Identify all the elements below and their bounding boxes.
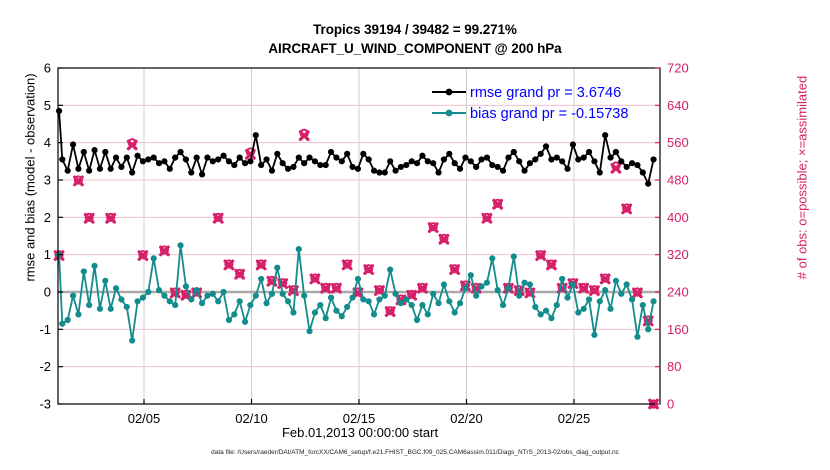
- bias-series-marker: [361, 297, 366, 302]
- rmse-series-marker: [259, 162, 264, 167]
- rmse-series-marker: [242, 161, 247, 166]
- bias-series-marker: [398, 301, 403, 306]
- bias-series-marker: [269, 291, 274, 296]
- rmse-series-marker: [189, 170, 194, 175]
- bias-series-marker: [619, 291, 624, 296]
- bias-series-marker: [302, 293, 307, 298]
- rmse-series-marker: [543, 144, 548, 149]
- rmse-series-marker: [640, 170, 645, 175]
- bias-series-marker: [350, 295, 355, 300]
- bias-series-marker: [339, 314, 344, 319]
- rmse-series-marker: [162, 159, 167, 164]
- bias-series-marker: [597, 299, 602, 304]
- rmse-series-marker: [119, 164, 124, 169]
- rmse-series-marker: [495, 164, 500, 169]
- y-tick-label-right: 80: [667, 359, 681, 374]
- bias-series-marker: [613, 278, 618, 283]
- bias-series-marker: [146, 289, 151, 294]
- y-tick-label-left: -2: [39, 359, 51, 374]
- rmse-series-marker: [447, 151, 452, 156]
- bias-series-marker: [388, 267, 393, 272]
- rmse-series-marker: [65, 168, 70, 173]
- rmse-series-marker: [366, 157, 371, 162]
- legend-marker-rmse: [446, 89, 453, 96]
- bias-series-marker: [635, 334, 640, 339]
- legend-label-bias: bias grand pr = -0.15738: [470, 106, 628, 122]
- bias-series-marker: [103, 278, 108, 283]
- bias-series-marker: [474, 293, 479, 298]
- bias-series-marker: [140, 295, 145, 300]
- rmse-series-marker: [334, 155, 339, 160]
- rmse-series-marker: [87, 168, 92, 173]
- rmse-series-marker: [613, 149, 618, 154]
- bias-series-marker: [457, 301, 462, 306]
- x-tick-label: 02/20: [450, 411, 483, 426]
- rmse-series-marker: [484, 155, 489, 160]
- bias-series-marker: [527, 282, 532, 287]
- legend-marker-bias: [446, 110, 453, 117]
- rmse-series-marker: [280, 161, 285, 166]
- bias-series-marker: [517, 293, 522, 298]
- x-tick-label: 02/25: [558, 411, 591, 426]
- bias-series-marker: [124, 304, 129, 309]
- bias-series-marker: [242, 319, 247, 324]
- bias-series-marker: [285, 299, 290, 304]
- rmse-series-marker: [651, 157, 656, 162]
- rmse-series-marker: [597, 170, 602, 175]
- bias-series-marker: [624, 282, 629, 287]
- rmse-series-marker: [248, 159, 253, 164]
- rmse-series-marker: [183, 157, 188, 162]
- rmse-series-marker: [156, 161, 161, 166]
- bias-series-marker: [414, 317, 419, 322]
- bias-series-marker: [382, 293, 387, 298]
- bias-series-marker: [312, 310, 317, 315]
- rmse-series-marker: [291, 164, 296, 169]
- rmse-series-marker: [377, 170, 382, 175]
- bias-series-marker: [447, 299, 452, 304]
- y-tick-label-left: -1: [39, 322, 51, 337]
- rmse-series-marker: [431, 161, 436, 166]
- rmse-series-marker: [167, 166, 172, 171]
- bias-series-marker: [199, 301, 204, 306]
- y-tick-label-left: 5: [44, 98, 51, 113]
- y-tick-label-right: 560: [667, 135, 689, 150]
- bias-series-marker: [216, 299, 221, 304]
- bias-series-marker: [570, 282, 575, 287]
- y-tick-label-left: 3: [44, 173, 51, 188]
- rmse-series-marker: [506, 155, 511, 160]
- bias-series-marker: [495, 288, 500, 293]
- rmse-series-marker: [124, 155, 129, 160]
- y-tick-label-left: 2: [44, 210, 51, 225]
- rmse-series-marker: [345, 151, 350, 156]
- bias-series-marker: [76, 312, 81, 317]
- rmse-series-marker: [619, 159, 624, 164]
- bias-series-marker: [318, 302, 323, 307]
- bias-series-marker: [221, 289, 226, 294]
- bias-series-marker: [345, 304, 350, 309]
- bias-series-marker: [65, 317, 70, 322]
- bias-series-marker: [420, 302, 425, 307]
- x-tick-label: 02/10: [235, 411, 268, 426]
- rmse-series-marker: [404, 162, 409, 167]
- bias-series-marker: [296, 246, 301, 251]
- rmse-series-marker: [522, 168, 527, 173]
- bias-series-marker: [291, 310, 296, 315]
- y-tick-label-right: 240: [667, 285, 689, 300]
- bias-series-marker: [560, 276, 565, 281]
- rmse-series-marker: [216, 157, 221, 162]
- bias-series-marker: [119, 297, 124, 302]
- bias-series-marker: [280, 291, 285, 296]
- bias-series-marker: [377, 297, 382, 302]
- rmse-series-marker: [226, 159, 231, 164]
- rmse-series-marker: [608, 155, 613, 160]
- bias-series-marker: [581, 306, 586, 311]
- y-tick-label-left: 4: [44, 135, 51, 150]
- bias-series-marker: [468, 273, 473, 278]
- rmse-series-marker: [253, 133, 258, 138]
- bias-series-marker: [355, 276, 360, 281]
- bias-series-marker: [646, 327, 651, 332]
- rmse-series-marker: [635, 162, 640, 167]
- bias-series-marker: [334, 308, 339, 313]
- bias-series-marker: [651, 299, 656, 304]
- rmse-series-marker: [420, 153, 425, 158]
- rmse-series-marker: [425, 159, 430, 164]
- rmse-series-marker: [76, 166, 81, 171]
- bias-series-marker: [226, 317, 231, 322]
- rmse-series-marker: [527, 161, 532, 166]
- y-tick-label-left: -3: [39, 397, 51, 412]
- bias-series-marker: [162, 293, 167, 298]
- rmse-series-marker: [490, 162, 495, 167]
- y-tick-label-right: 640: [667, 98, 689, 113]
- bias-series-marker: [328, 295, 333, 300]
- rmse-series-marker: [178, 149, 183, 154]
- rmse-series-marker: [393, 168, 398, 173]
- bias-series-marker: [640, 302, 645, 307]
- rmse-series-marker: [350, 164, 355, 169]
- y-tick-label-left: 6: [44, 61, 51, 76]
- rmse-series-marker: [457, 166, 462, 171]
- rmse-series-marker: [586, 149, 591, 154]
- bias-series-marker: [275, 265, 280, 270]
- rmse-series-marker: [500, 168, 505, 173]
- bias-series-marker: [108, 306, 113, 311]
- bias-series-marker: [135, 299, 140, 304]
- bias-series-marker: [113, 286, 118, 291]
- bias-series-marker: [178, 243, 183, 248]
- bias-series-marker: [431, 291, 436, 296]
- rmse-series-marker: [135, 153, 140, 158]
- rmse-series-marker: [312, 159, 317, 164]
- y-tick-label-right: 0: [667, 397, 674, 412]
- bias-series-marker: [608, 306, 613, 311]
- bias-series-marker: [259, 276, 264, 281]
- rmse-series-marker: [237, 155, 242, 160]
- y-tick-label-right: 400: [667, 210, 689, 225]
- rmse-series-marker: [275, 151, 280, 156]
- bias-series-marker: [511, 254, 516, 259]
- bias-series-marker: [97, 306, 102, 311]
- rmse-series-marker: [646, 181, 651, 186]
- rmse-series-marker: [318, 162, 323, 167]
- rmse-series-marker: [232, 162, 237, 167]
- bias-series-marker: [253, 293, 258, 298]
- bias-series-marker: [425, 312, 430, 317]
- bias-series-marker: [436, 301, 441, 306]
- bias-series-marker: [210, 291, 215, 296]
- bias-series-marker: [533, 304, 538, 309]
- rmse-series-marker: [92, 148, 97, 153]
- bias-series-marker: [463, 286, 468, 291]
- rmse-series-marker: [511, 149, 516, 154]
- rmse-series-marker: [474, 164, 479, 169]
- rmse-series-marker: [205, 155, 210, 160]
- bias-series-marker: [323, 316, 328, 321]
- y-tick-label-right: 160: [667, 322, 689, 337]
- bias-series-marker: [393, 291, 398, 296]
- rmse-series-marker: [113, 155, 118, 160]
- rmse-series-marker: [624, 164, 629, 169]
- rmse-series-marker: [560, 159, 565, 164]
- bias-series-marker: [404, 297, 409, 302]
- rmse-series-marker: [538, 151, 543, 156]
- bias-series-marker: [409, 302, 414, 307]
- rmse-series-marker: [441, 157, 446, 162]
- rmse-series-marker: [210, 159, 215, 164]
- y-tick-label-left: 0: [44, 285, 51, 300]
- bias-series-marker: [479, 284, 484, 289]
- rmse-series-marker: [409, 159, 414, 164]
- rmse-series-marker: [70, 142, 75, 147]
- rmse-series-marker: [468, 159, 473, 164]
- obs-diag-figure: Tropics 39194 / 39482 = 99.271% AIRCRAFT…: [0, 0, 830, 470]
- rmse-series-marker: [554, 155, 559, 160]
- rmse-series-marker: [576, 157, 581, 162]
- bias-series-marker: [156, 288, 161, 293]
- bias-series-marker: [92, 263, 97, 268]
- bias-series-marker: [538, 312, 543, 317]
- rmse-series-marker: [151, 155, 156, 160]
- bias-series-marker: [60, 321, 65, 326]
- y-tick-label-left: 1: [44, 247, 51, 262]
- bias-series-marker: [565, 295, 570, 300]
- rmse-series-marker: [452, 161, 457, 166]
- y-tick-label-right: 480: [667, 173, 689, 188]
- x-tick-label: 02/15: [343, 411, 376, 426]
- rmse-series-marker: [570, 142, 575, 147]
- bias-series-marker: [87, 302, 92, 307]
- rmse-series-marker: [323, 162, 328, 167]
- bias-series-marker: [232, 312, 237, 317]
- rmse-series-marker: [463, 155, 468, 160]
- bias-series-marker: [500, 302, 505, 307]
- rmse-series-marker: [479, 157, 484, 162]
- rmse-series-marker: [108, 166, 113, 171]
- bias-series-marker: [629, 297, 634, 302]
- bias-series-marker: [549, 316, 554, 321]
- rmse-series-marker: [194, 155, 199, 160]
- rmse-series-marker: [581, 155, 586, 160]
- rmse-series-marker: [517, 159, 522, 164]
- rmse-series-marker: [382, 170, 387, 175]
- rmse-series-marker: [398, 164, 403, 169]
- bias-series-marker: [441, 282, 446, 287]
- rmse-series-marker: [533, 157, 538, 162]
- bias-series-marker: [248, 302, 253, 307]
- rmse-series-marker: [56, 108, 61, 113]
- rmse-series-marker: [592, 159, 597, 164]
- rmse-series-marker: [296, 155, 301, 160]
- rmse-series-marker: [130, 170, 135, 175]
- rmse-series-marker: [629, 161, 634, 166]
- bias-series-marker: [576, 310, 581, 315]
- rmse-series-marker: [60, 157, 65, 162]
- bias-series-marker: [194, 288, 199, 293]
- bias-series-marker: [371, 312, 376, 317]
- rmse-series-marker: [264, 157, 269, 162]
- rmse-series-marker: [328, 149, 333, 154]
- bias-series-marker: [167, 299, 172, 304]
- bias-series-marker: [130, 338, 135, 343]
- bias-series-marker: [264, 301, 269, 306]
- rmse-series-marker: [371, 168, 376, 173]
- bias-series-marker: [307, 329, 312, 334]
- bias-series-marker: [490, 256, 495, 261]
- rmse-series-marker: [81, 149, 86, 154]
- bias-series-marker: [543, 308, 548, 313]
- bias-series-marker: [237, 299, 242, 304]
- rmse-series-marker: [140, 159, 145, 164]
- bias-series-marker: [183, 284, 188, 289]
- y-tick-label-right: 320: [667, 247, 689, 262]
- bias-series-marker: [173, 302, 178, 307]
- x-tick-label: 02/05: [128, 411, 161, 426]
- bias-series-marker: [603, 288, 608, 293]
- rmse-series-marker: [302, 161, 307, 166]
- bias-series-marker: [205, 293, 210, 298]
- bias-series-marker: [522, 280, 527, 285]
- bias-series-marker: [484, 280, 489, 285]
- rmse-series-marker: [285, 166, 290, 171]
- plot-canvas: -3-2-10123456080160240320400480560640720…: [0, 0, 830, 470]
- rmse-series-marker: [199, 172, 204, 177]
- bias-series-marker: [81, 269, 86, 274]
- rmse-series-marker: [307, 155, 312, 160]
- rmse-series-marker: [549, 157, 554, 162]
- bias-series-marker: [151, 256, 156, 261]
- rmse-series-marker: [173, 155, 178, 160]
- bias-series-marker: [592, 332, 597, 337]
- rmse-series-marker: [388, 159, 393, 164]
- bias-series-marker: [189, 297, 194, 302]
- rmse-series-marker: [603, 133, 608, 138]
- rmse-series-marker: [436, 170, 441, 175]
- rmse-series-marker: [146, 157, 151, 162]
- rmse-series-marker: [565, 166, 570, 171]
- rmse-series-marker: [97, 166, 102, 171]
- rmse-series-marker: [339, 159, 344, 164]
- rmse-series-marker: [221, 153, 226, 158]
- bias-series-marker: [366, 299, 371, 304]
- bias-series-marker: [70, 293, 75, 298]
- rmse-series-marker: [361, 151, 366, 156]
- y-tick-label-right: 720: [667, 61, 689, 76]
- rmse-series-marker: [269, 168, 274, 173]
- bias-series-marker: [586, 297, 591, 302]
- rmse-series-marker: [355, 166, 360, 171]
- legend-label-rmse: rmse grand pr = 3.6746: [470, 85, 621, 101]
- rmse-series-marker: [414, 161, 419, 166]
- bias-series-marker: [506, 286, 511, 291]
- bias-series-marker: [554, 302, 559, 307]
- bias-series-marker: [452, 310, 457, 315]
- rmse-series-marker: [103, 149, 108, 154]
